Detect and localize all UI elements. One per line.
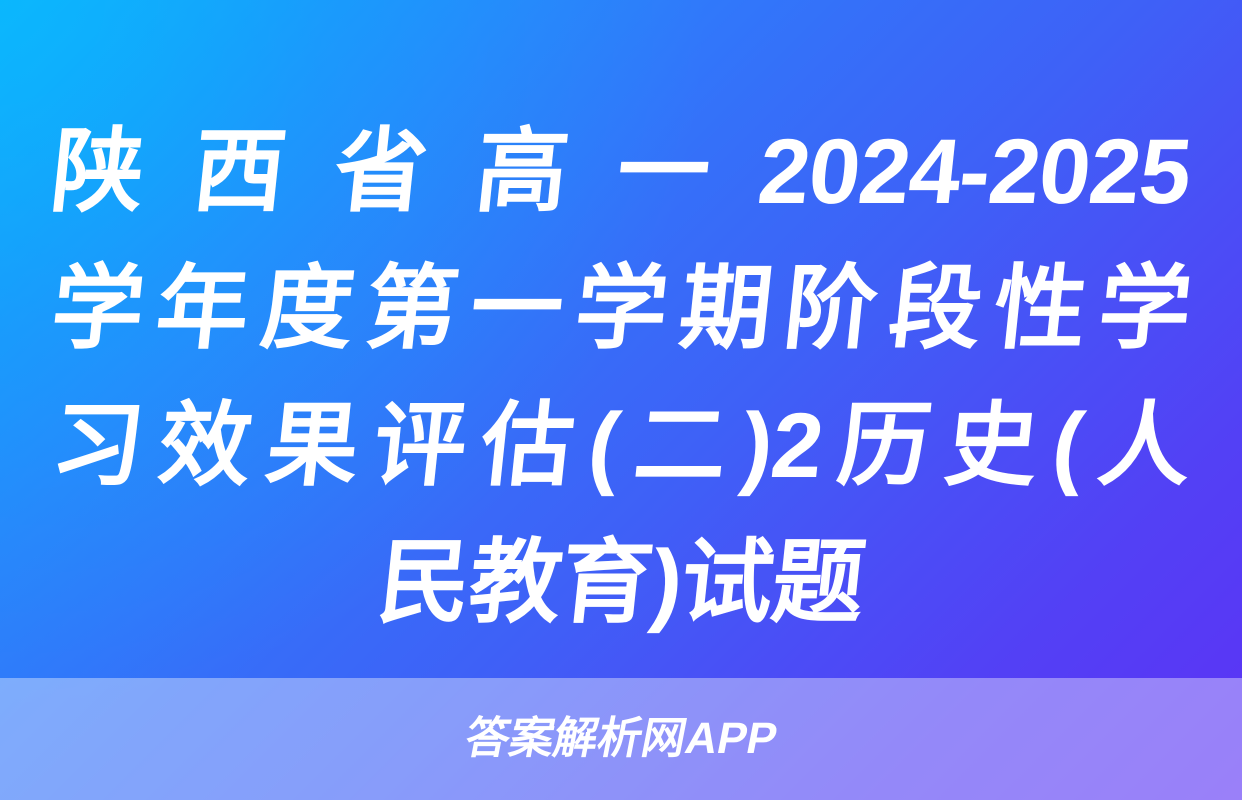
title-line-4: 民教育)试题 xyxy=(45,515,1197,652)
app-name-label: 答案解析网APP xyxy=(461,717,780,761)
title-line-2: 学年度第一学期阶段性学 xyxy=(45,241,1197,378)
page-title: 陕西省高一2024-2025 学年度第一学期阶段性学 习效果评估(二)2历史(人… xyxy=(0,104,1242,652)
title-line-3: 习效果评估(二)2历史(人 xyxy=(45,378,1197,515)
title-line-1: 陕西省高一2024-2025 xyxy=(45,104,1197,241)
title-card: 陕西省高一2024-2025 学年度第一学期阶段性学 习效果评估(二)2历史(人… xyxy=(0,0,1242,800)
footer-band: 答案解析网APP xyxy=(0,678,1242,800)
